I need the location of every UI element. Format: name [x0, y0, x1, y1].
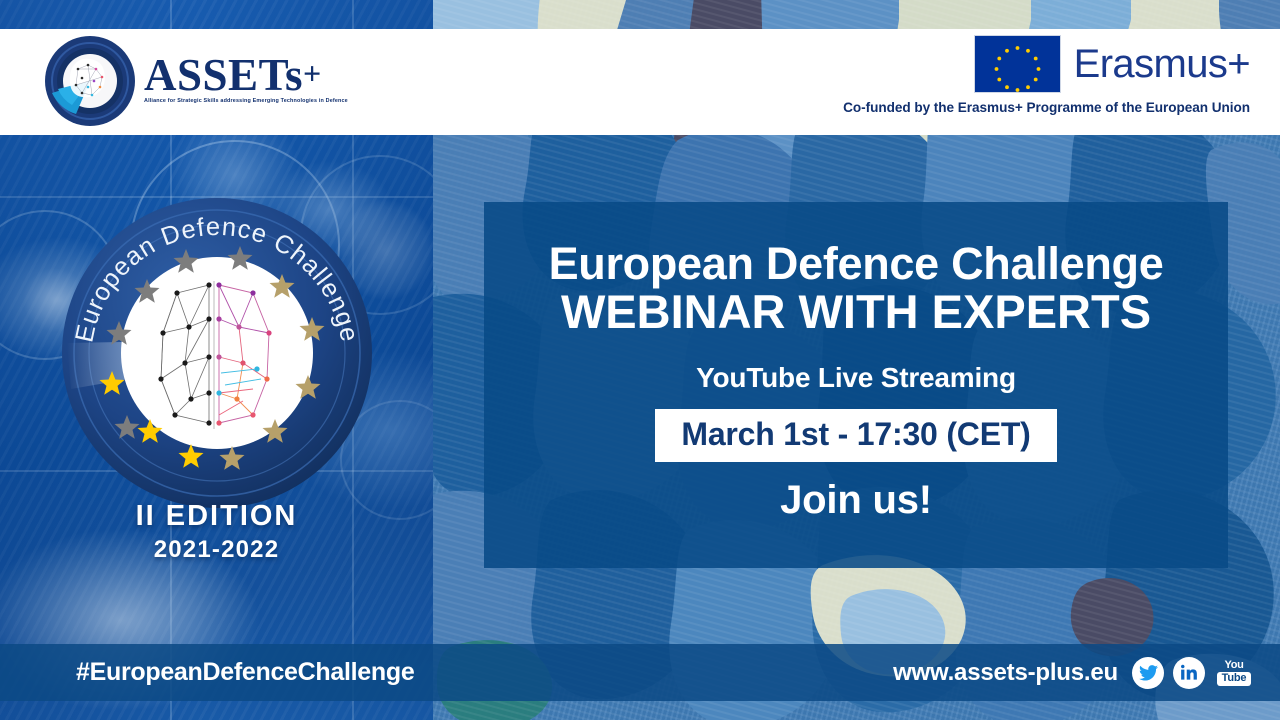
- event-title-line1: European Defence Challenge: [549, 239, 1164, 289]
- twitter-icon[interactable]: [1132, 657, 1164, 689]
- youtube-label-bottom: Tube: [1217, 672, 1252, 686]
- erasmus-plus-block: Erasmus+ Co-funded by the Erasmus+ Progr…: [843, 35, 1250, 115]
- footer-right-group: www.assets-plus.eu You Tube: [893, 656, 1254, 690]
- cofunding-statement: Co-funded by the Erasmus+ Programme of t…: [843, 100, 1250, 115]
- assets-circular-emblem-icon: [44, 35, 136, 127]
- event-info-panel: European Defence Challenge WEBINAR WITH …: [484, 202, 1228, 568]
- assets-plus-sign: +: [303, 55, 322, 91]
- campaign-hashtag[interactable]: #EuropeanDefenceChallenge: [76, 658, 414, 687]
- assets-word-text: ASSETs: [144, 50, 303, 100]
- event-streaming-platform: YouTube Live Streaming: [696, 362, 1016, 394]
- youtube-label-top: You: [1224, 660, 1243, 671]
- edition-info: II EDITION 2021-2022: [0, 500, 433, 564]
- call-to-action-text: Join us!: [780, 478, 932, 523]
- youtube-icon[interactable]: You Tube: [1214, 656, 1254, 690]
- european-union-flag-icon: [974, 35, 1061, 93]
- event-date-time: March 1st - 17:30 (CET): [681, 416, 1030, 453]
- social-links: You Tube: [1132, 656, 1254, 690]
- header-bar: ASSETs+ Alliance for Strategic Skills ad…: [0, 29, 1280, 135]
- event-title-line2: WEBINAR WITH EXPERTS: [561, 287, 1151, 338]
- footer-bar: #EuropeanDefenceChallenge www.assets-plu…: [0, 644, 1280, 701]
- edition-years: 2021-2022: [0, 536, 433, 564]
- website-url[interactable]: www.assets-plus.eu: [893, 659, 1118, 687]
- linkedin-icon[interactable]: [1173, 657, 1205, 689]
- promotional-banner: ASSETs+ Alliance for Strategic Skills ad…: [0, 0, 1280, 720]
- european-defence-challenge-emblem: European Defence Challenge: [57, 193, 377, 513]
- assets-wordmark: ASSETs+: [144, 54, 348, 97]
- event-date-box: March 1st - 17:30 (CET): [655, 409, 1056, 462]
- assets-plus-logo[interactable]: ASSETs+ Alliance for Strategic Skills ad…: [44, 35, 348, 127]
- assets-tagline: Alliance for Strategic Skills addressing…: [144, 98, 348, 104]
- edition-label: II EDITION: [0, 500, 433, 533]
- erasmus-wordmark: Erasmus+: [1074, 42, 1250, 87]
